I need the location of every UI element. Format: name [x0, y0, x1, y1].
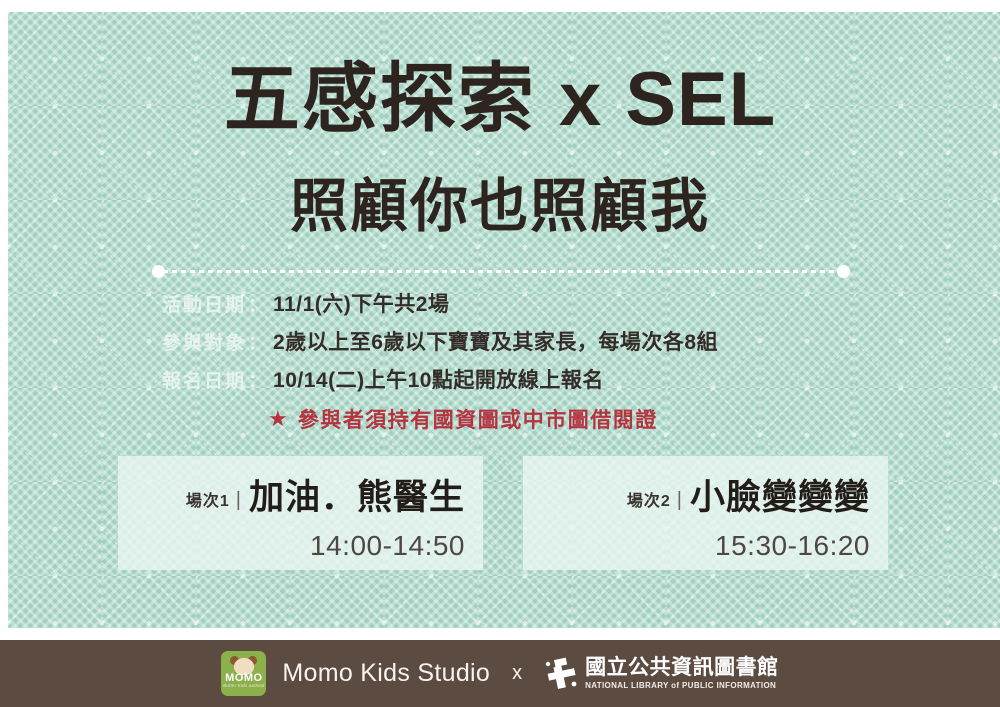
poster-canvas: 五感探索 x SEL 照顧你也照顧我 活動日期 ： 11/1(六)下午共2場 參… — [0, 0, 1000, 707]
info-value: 11/1(六)下午共2場 — [273, 288, 449, 318]
info-value: 10/14(二)上午10點起開放線上報名 — [273, 364, 604, 394]
title-main-separator: x — [559, 57, 602, 142]
info-row-audience: 參與對象 ： 2歲以上至6歲以下寶寶及其家長，每場次各8組 — [162, 326, 942, 356]
session-1-time: 14:00-14:50 — [310, 530, 465, 562]
info-label: 參與對象 — [162, 328, 246, 355]
session-2-separator: | — [677, 489, 682, 512]
info-colon: ： — [248, 328, 267, 355]
session-2-name: 小臉變變變 — [690, 480, 870, 515]
national-library-branding: 國立公共資訊圖書館 NATIONAL LIBRARY of PUBLIC INF… — [544, 657, 779, 691]
nlpi-mark-svg — [544, 657, 578, 691]
session-2-tag: 場次2 — [627, 487, 671, 511]
national-library-text-block: 國立公共資訊圖書館 NATIONAL LIBRARY of PUBLIC INF… — [585, 657, 779, 690]
title-main-cjk: 五感探索 — [224, 57, 536, 142]
divider-dot-right — [837, 265, 850, 278]
momo-kids-studio-name: Momo Kids Studio — [282, 659, 490, 688]
info-note-row: ★ 參與者須持有國資圖或中市圖借閱證 — [162, 404, 942, 434]
session-2-time: 15:30-16:20 — [715, 530, 870, 562]
info-label: 活動日期 — [162, 290, 246, 317]
info-row-registration-date: 報名日期 ： 10/14(二)上午10點起開放線上報名 — [162, 364, 942, 394]
session-1-heading: 場次1 | 加油．熊醫生 — [118, 480, 465, 515]
session-1-name: 加油．熊醫生 — [249, 480, 465, 515]
national-library-name-en: NATIONAL LIBRARY of PUBLIC INFORMATION — [585, 681, 776, 690]
title-main-latin: SEL — [625, 57, 776, 142]
info-label: 報名日期 — [162, 366, 246, 393]
national-library-logo-icon — [544, 657, 578, 691]
footer-bar: MOMO Butter Kids outlook Momo Kids Studi… — [0, 640, 1000, 707]
footer-branding: MOMO Butter Kids outlook Momo Kids Studi… — [221, 651, 778, 696]
event-info-list: 活動日期 ： 11/1(六)下午共2場 參與對象 ： 2歲以上至6歲以下寶寶及其… — [162, 288, 942, 434]
momo-logo-tagline: Butter Kids outlook — [221, 683, 266, 688]
poster-title-main: 五感探索 x SEL — [0, 62, 1000, 138]
info-row-event-date: 活動日期 ： 11/1(六)下午共2場 — [162, 288, 942, 318]
session-1-tag: 場次1 — [186, 487, 230, 511]
info-value: 2歲以上至6歲以下寶寶及其家長，每場次各8組 — [273, 326, 718, 356]
divider-dashed-line — [163, 270, 839, 273]
session-2-heading: 場次2 | 小臉變變變 — [523, 480, 870, 515]
footer-white-gap — [0, 628, 1000, 640]
session-card-2: 場次2 | 小臉變變變 15:30-16:20 — [523, 456, 888, 570]
info-colon: ： — [248, 290, 267, 317]
session-card-1: 場次1 | 加油．熊醫生 14:00-14:50 — [118, 456, 483, 570]
poster-subtitle: 照顧你也照顧我 — [0, 178, 1000, 236]
info-note-text: 參與者須持有國資圖或中市圖借閱證 — [298, 404, 658, 434]
national-library-name-cn: 國立公共資訊圖書館 — [585, 657, 779, 679]
star-icon: ★ — [268, 408, 288, 430]
info-colon: ： — [248, 366, 267, 393]
session-1-separator: | — [236, 489, 241, 512]
dotted-divider — [152, 265, 850, 278]
collaboration-separator: x — [512, 662, 522, 685]
momo-kids-studio-logo-icon: MOMO Butter Kids outlook — [221, 651, 266, 696]
